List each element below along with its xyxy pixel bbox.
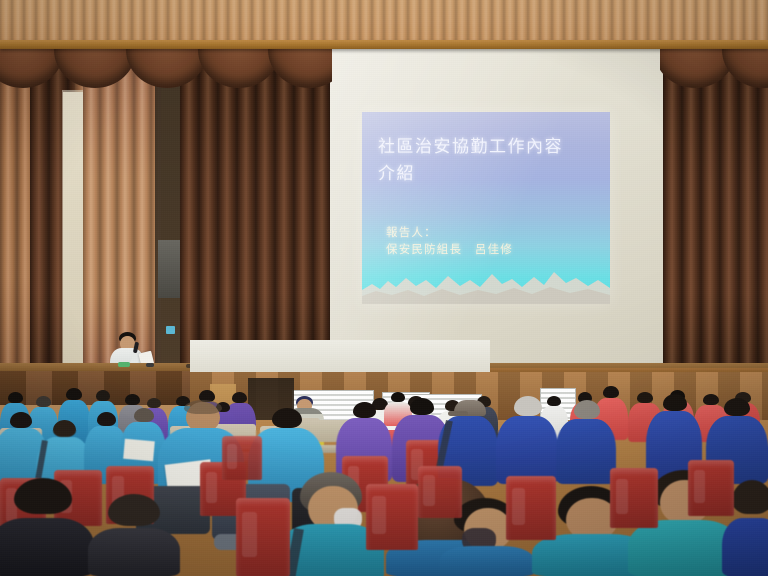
red-stool-fg-5	[688, 460, 734, 516]
upper-white-wall	[190, 340, 490, 372]
attendee-grey-hair-blue	[496, 396, 558, 484]
stage-curtain-far-left	[0, 46, 30, 376]
red-stool-fg-3	[506, 476, 556, 540]
backstage-equipment	[158, 240, 180, 298]
photo-scene: 社區治安協勤工作內容 介紹 報告人： 保安民防組長 呂佳修	[0, 0, 768, 576]
stage-curtain-center-dark	[180, 46, 332, 376]
backstage-indicator-light	[166, 326, 175, 334]
screen-glare	[330, 46, 663, 376]
stage-curtain-right-dark	[663, 46, 768, 376]
red-stool-fg-4	[610, 468, 658, 528]
stage-gap-strip	[63, 92, 83, 376]
red-stool-fg-1	[236, 498, 290, 576]
attendee-blue-right-1	[556, 400, 616, 484]
attendee-foreground-left-2	[88, 494, 180, 576]
stage-curtain-lit-panel	[83, 46, 161, 376]
red-stool-fg-6	[418, 466, 462, 518]
attendee-foreground-left-edge	[0, 478, 94, 576]
red-stool-7	[222, 436, 262, 480]
handout-paper-2	[123, 439, 155, 462]
stage-item-dark-a	[146, 363, 154, 367]
valance-rail	[0, 40, 768, 49]
stage-item-green	[118, 362, 130, 367]
swag-valance-right	[660, 46, 768, 92]
swag-valance-left	[0, 46, 332, 92]
red-stool-fg-2	[366, 484, 418, 550]
